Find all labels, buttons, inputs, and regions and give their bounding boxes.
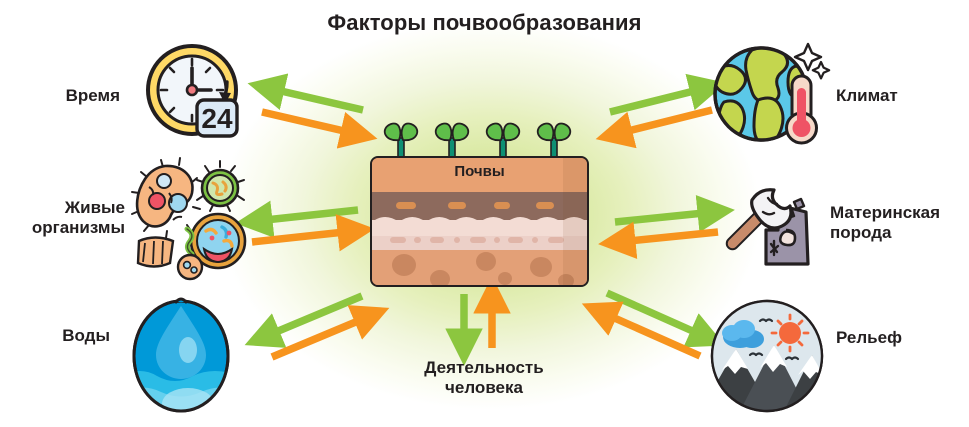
label-bedrock-line2: порода <box>830 223 969 243</box>
soil-speck <box>470 237 486 243</box>
soil-speck <box>536 202 554 209</box>
label-organisms: Живые организмы <box>0 198 125 238</box>
earth-thermometer-icon <box>708 36 830 154</box>
soil-speck <box>396 202 416 209</box>
soil-speck <box>448 202 466 209</box>
soil-pebble <box>476 252 496 271</box>
label-relief: Рельеф <box>836 328 969 348</box>
arrow-pair-time <box>262 88 363 134</box>
arrow-pair-water <box>264 296 370 357</box>
label-human: Деятельность человека <box>378 358 590 398</box>
soil-pebble <box>498 272 512 285</box>
soil-speck <box>548 237 564 243</box>
mountains-icon <box>708 297 826 415</box>
label-human-line2: человека <box>378 378 590 398</box>
soil-speck <box>430 237 444 243</box>
soil-pebble <box>392 254 416 276</box>
water-drop-globe-icon <box>126 292 236 418</box>
soil-profile-icon: Почвы <box>370 118 585 283</box>
clock-badge-text: 24 <box>201 103 233 134</box>
arrow-pair-relief <box>601 293 706 356</box>
page-title: Факторы почвообразования <box>0 10 969 36</box>
label-water: Воды <box>0 326 110 346</box>
soil-pebble <box>430 270 450 287</box>
label-climate: Климат <box>836 86 969 106</box>
label-organisms-line1: Живые <box>0 198 125 218</box>
soil-speck <box>532 237 538 243</box>
microorganisms-icon <box>135 163 255 273</box>
soil-speck <box>494 202 510 209</box>
label-organisms-line2: организмы <box>0 218 125 238</box>
soil-speck <box>508 237 523 243</box>
soil-speck <box>454 237 460 243</box>
arrow-pair-bedrock <box>615 212 718 242</box>
soil-pebble <box>530 257 552 277</box>
sparkle-icon <box>813 62 829 78</box>
arrow-pair-organisms <box>252 210 358 242</box>
soil-speck <box>494 237 500 243</box>
arrow-pair-climate <box>610 88 712 134</box>
center-label: Почвы <box>372 163 587 180</box>
arrow-pair-human <box>464 294 492 348</box>
label-time: Время <box>0 86 120 106</box>
soil-wave-divider <box>372 212 587 228</box>
soil-speck <box>390 237 406 243</box>
label-bedrock-line1: Материнская <box>830 203 969 223</box>
pickaxe-rock-icon <box>722 178 826 274</box>
label-bedrock: Материнская порода <box>830 203 969 243</box>
label-human-line1: Деятельность <box>378 358 590 378</box>
infographic-canvas: Факторы почвообразования <box>0 0 969 427</box>
soil-block: Почвы <box>370 156 589 287</box>
clock-24h-icon: 24 <box>139 38 251 150</box>
soil-speck <box>414 237 421 243</box>
